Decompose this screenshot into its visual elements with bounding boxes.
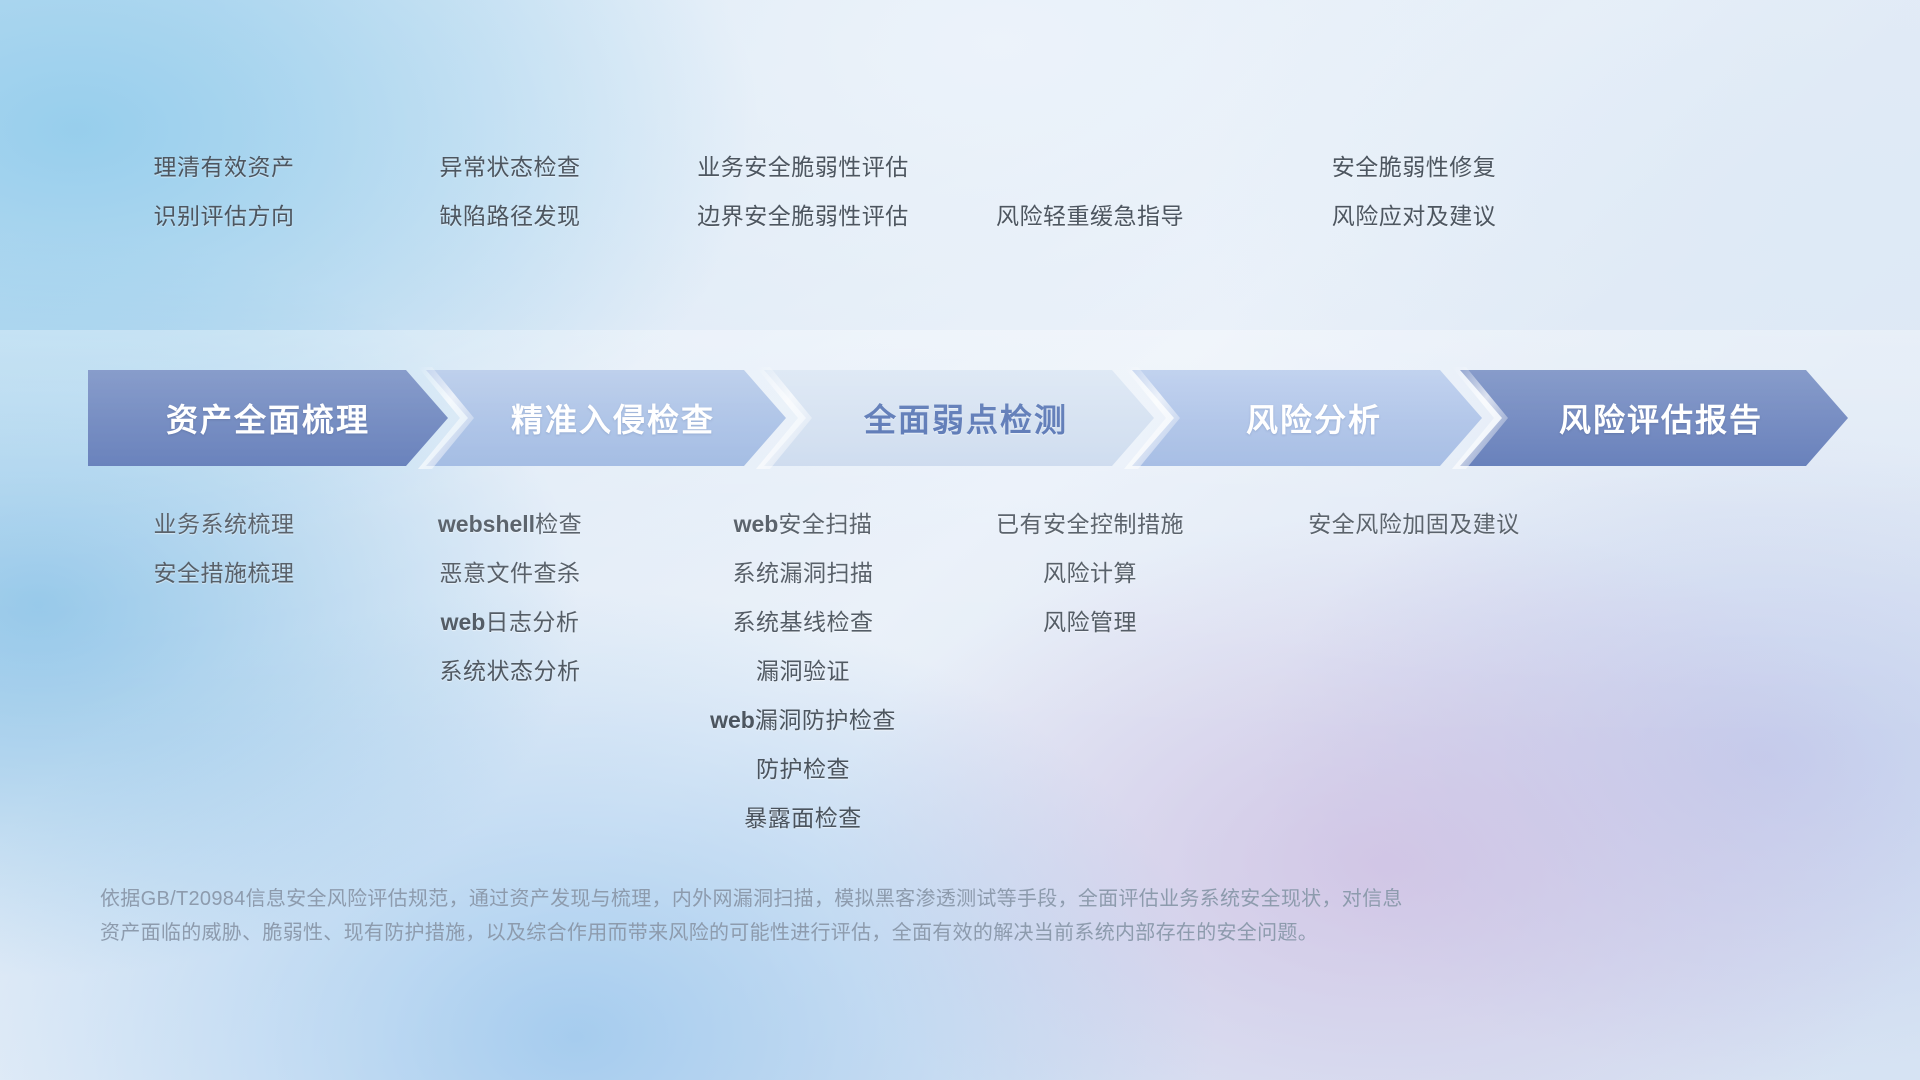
bottom-item: 安全风险加固及建议	[1224, 500, 1604, 549]
bottom-item: 风险计算	[920, 549, 1260, 598]
bottom-item: 风险管理	[920, 598, 1260, 647]
chevron-step-1[interactable]: 资产全面梳理	[88, 370, 448, 466]
bottom-item: 业务系统梳理	[74, 500, 374, 549]
bottom-item: 漏洞验证	[603, 647, 1003, 696]
top-label-column-5: 安全脆弱性修复风险应对及建议	[1224, 143, 1604, 241]
chevron-step-4[interactable]: 风险分析	[1132, 370, 1482, 466]
diagram-background: 理清有效资产识别评估方向异常状态检查缺陷路径发现业务安全脆弱性评估边界安全脆弱性…	[0, 0, 1920, 1080]
chevron-step-3[interactable]: 全面弱点检测	[764, 370, 1154, 466]
top-item: 风险轻重缓急指导	[920, 192, 1260, 241]
top-item: 业务安全脆弱性评估	[603, 143, 1003, 192]
footer-line-2: 资产面临的威胁、脆弱性、现有防护措施，以及综合作用而带来风险的可能性进行评估，全…	[100, 916, 1720, 950]
bottom-label-column-5: 安全风险加固及建议	[1224, 500, 1604, 549]
chevron-step-5[interactable]: 风险评估报告	[1460, 370, 1848, 466]
latin-run: web	[441, 609, 486, 635]
bottom-item: web漏洞防护检查	[603, 696, 1003, 745]
bottom-item: 已有安全控制措施	[920, 500, 1260, 549]
latin-run: webshell	[438, 511, 535, 537]
bottom-item: 安全措施梳理	[74, 549, 374, 598]
chevron-label: 风险分析	[1232, 395, 1382, 441]
chevron-band: 资产全面梳理精准入侵检查全面弱点检测风险分析风险评估报告	[88, 370, 1848, 466]
latin-run: web	[734, 511, 779, 537]
top-item: 风险应对及建议	[1224, 192, 1604, 241]
bottom-item: 防护检查	[603, 745, 1003, 794]
bottom-item: 暴露面检查	[603, 794, 1003, 843]
latin-run: web	[710, 707, 755, 733]
chevron-step-2[interactable]: 精准入侵检查	[426, 370, 786, 466]
chevron-label: 资产全面梳理	[166, 395, 370, 441]
chevron-label: 全面弱点检测	[850, 395, 1068, 441]
footer-description: 依据GB/T20984信息安全风险评估规范，通过资产发现与梳理，内外网漏洞扫描，…	[100, 882, 1720, 950]
top-label-column-4: 风险轻重缓急指导	[920, 192, 1260, 241]
chevron-label: 精准入侵检查	[497, 395, 715, 441]
bottom-label-column-4: 已有安全控制措施风险计算风险管理	[920, 500, 1260, 647]
chevron-label: 风险评估报告	[1545, 395, 1763, 441]
top-item: 理清有效资产	[74, 143, 374, 192]
process-diagram: 理清有效资产识别评估方向异常状态检查缺陷路径发现业务安全脆弱性评估边界安全脆弱性…	[0, 0, 1920, 1080]
top-item: 识别评估方向	[74, 192, 374, 241]
top-label-column-1: 理清有效资产识别评估方向	[74, 143, 374, 241]
footer-line-1: 依据GB/T20984信息安全风险评估规范，通过资产发现与梳理，内外网漏洞扫描，…	[100, 882, 1720, 916]
top-item: 安全脆弱性修复	[1224, 143, 1604, 192]
bottom-label-column-1: 业务系统梳理安全措施梳理	[74, 500, 374, 598]
